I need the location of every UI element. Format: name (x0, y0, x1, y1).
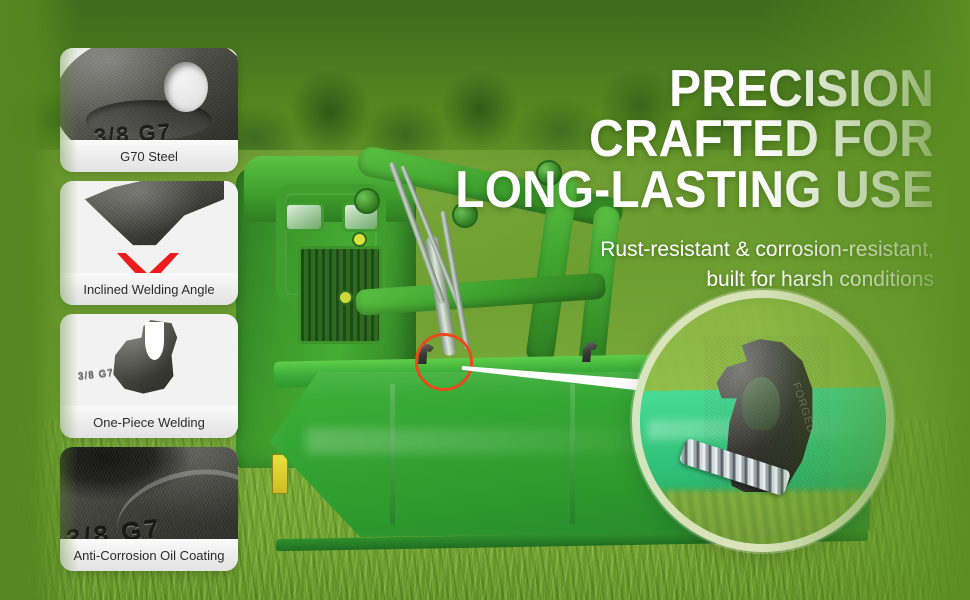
edge-vignette (0, 0, 970, 600)
product-feature-banner: FORGED PRECISION CRAFTED FOR LONG-LASTIN… (0, 0, 970, 600)
